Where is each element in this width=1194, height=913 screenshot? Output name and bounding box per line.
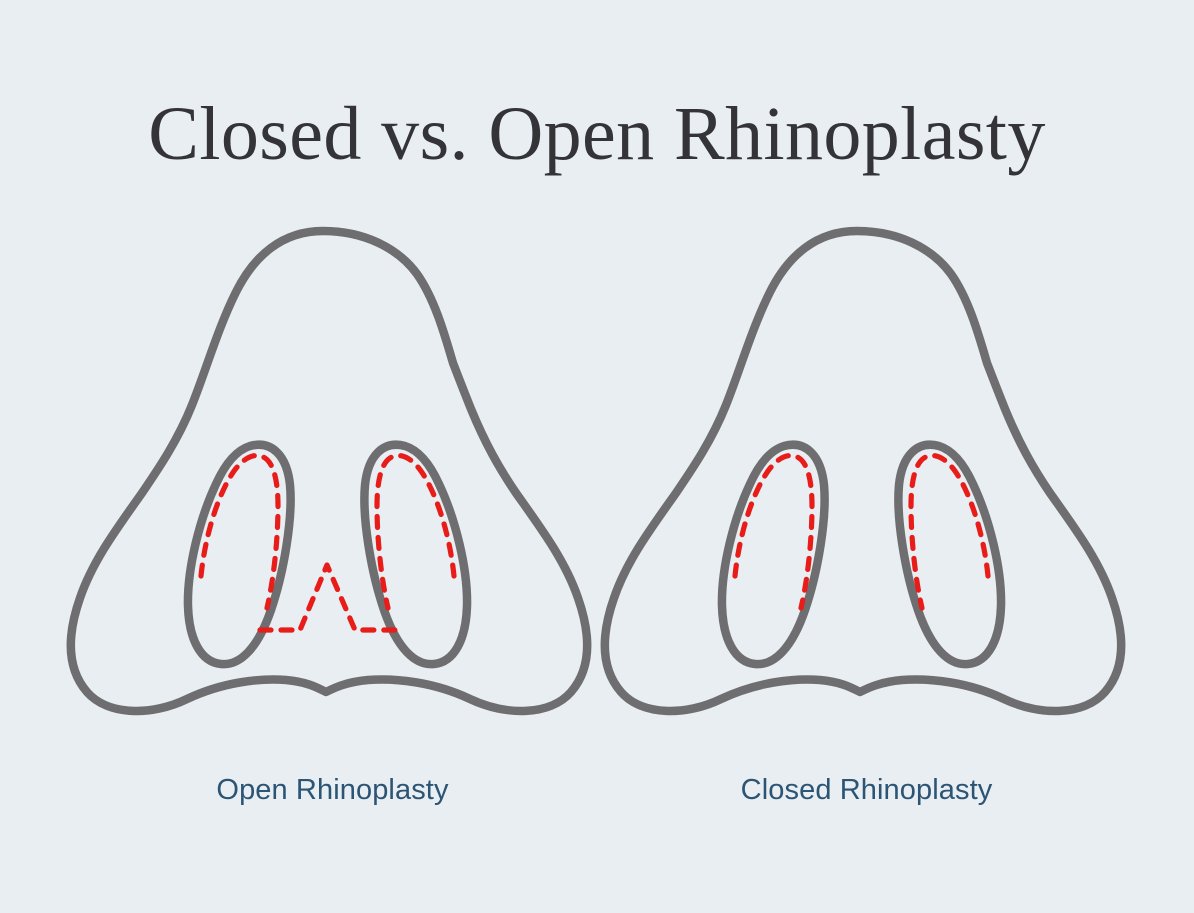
nose-base-view-diagram-open: [60, 200, 605, 760]
nose-outline-open: [71, 231, 587, 711]
page-title: Closed vs. Open Rhinoplasty: [0, 88, 1194, 180]
incision-marginal-left-closed: [735, 456, 812, 608]
nose-outline-closed: [605, 231, 1121, 711]
figure-open-rhinoplasty: [60, 200, 605, 760]
nose-base-view-diagram-closed: [594, 200, 1139, 760]
figures-row: [0, 200, 1194, 760]
caption-open-rhinoplasty: Open Rhinoplasty: [60, 770, 605, 810]
incision-marginal-right-open: [377, 456, 454, 608]
figure-closed-rhinoplasty: [594, 200, 1139, 760]
caption-closed-rhinoplasty: Closed Rhinoplasty: [594, 770, 1139, 810]
incision-marginal-right-closed: [911, 456, 988, 608]
illustration-canvas: Closed vs. Open Rhinoplasty: [0, 0, 1194, 913]
incision-marginal-left-open: [201, 456, 278, 608]
